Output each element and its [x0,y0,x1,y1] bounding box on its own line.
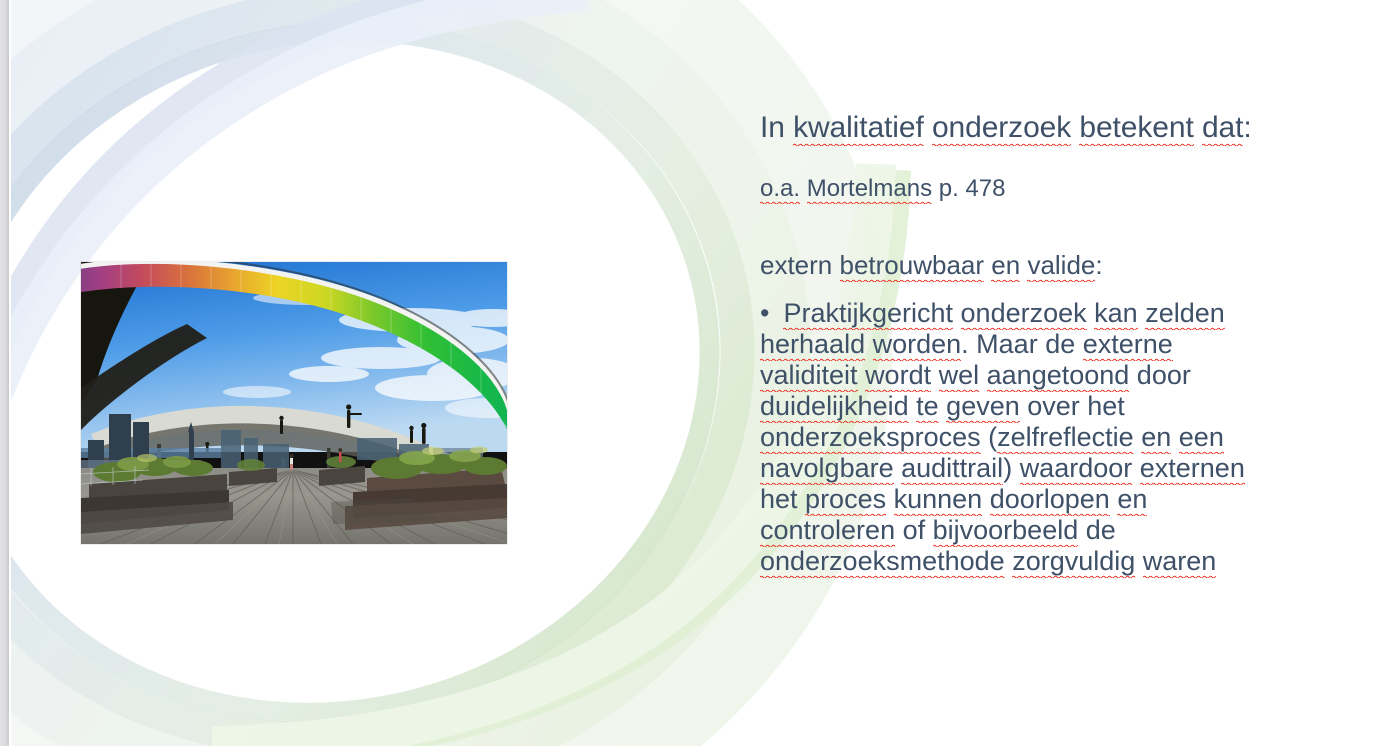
section-heading: extern betrouwbaar en valide: [760,252,1275,279]
bullet-glyph: • [760,298,769,329]
bullet-text: Praktijkgericht onderzoek kan zelden her… [760,298,1245,578]
window-left-edge-strip [0,0,9,746]
window-left-edge-highlight [9,0,11,746]
slide-canvas: In kwalitatief onderzoek betekent dat: o… [0,0,1378,746]
source-reference: o.a. Mortelmans p. 478 [760,176,1275,201]
page-title: In kwalitatief onderzoek betekent dat: [760,112,1275,144]
bullet-paragraph: •Praktijkgericht onderzoek kan zelden he… [760,298,1275,577]
slide-text-block: In kwalitatief onderzoek betekent dat: o… [760,112,1275,577]
rooftop-rainbow-panorama-photo [81,262,507,544]
